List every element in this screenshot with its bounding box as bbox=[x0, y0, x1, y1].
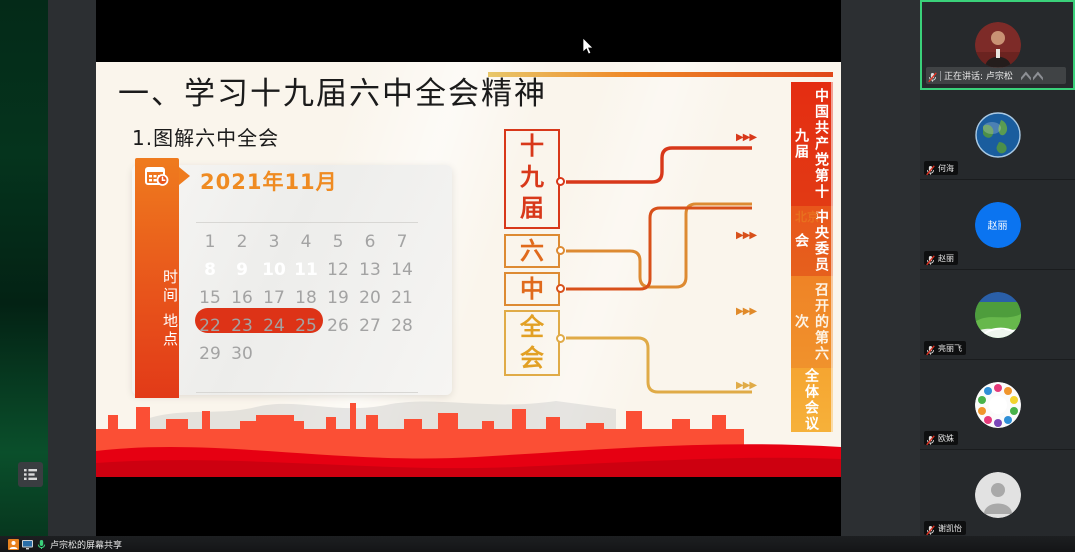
diagram-connectors bbox=[490, 72, 841, 432]
diagram-arrow-3: ▶▶▶ bbox=[736, 380, 756, 391]
slide-subtitle: 1.图解六中全会 bbox=[132, 122, 279, 151]
diagram-arrow-0: ▶▶▶ bbox=[736, 132, 756, 143]
participant-name-badge: 亮丽飞 bbox=[924, 341, 966, 355]
calendar-day: 10 bbox=[258, 258, 290, 283]
participant-name: 正在讲话: 卢宗松 bbox=[944, 69, 1013, 82]
calendar-rule-bottom bbox=[196, 392, 418, 393]
diagram-node-3 bbox=[556, 334, 565, 343]
calendar-day: 25 bbox=[290, 314, 322, 339]
participant-tile[interactable]: 亮丽飞 bbox=[920, 270, 1075, 360]
calendar-day: 13 bbox=[354, 258, 386, 283]
taskbar: 卢宗松的屏幕共享 bbox=[0, 536, 1075, 552]
label-cpc-19th: 中国共产党第十九届 bbox=[791, 82, 833, 206]
participant-name-badge: 赵丽 bbox=[924, 251, 958, 265]
mouse-cursor bbox=[583, 38, 595, 55]
calendar-day: 23 bbox=[226, 314, 258, 339]
calendar-day: 5 bbox=[322, 230, 354, 255]
calendar-day: 29 bbox=[194, 342, 226, 367]
calendar-day: 9 bbox=[226, 258, 258, 283]
calendar-clock-icon bbox=[145, 166, 169, 186]
participant-tile[interactable]: 赵丽赵丽 bbox=[920, 180, 1075, 270]
participant-name-badge: 欧姝 bbox=[924, 431, 958, 445]
mic-muted-icon bbox=[926, 433, 935, 444]
calendar-day: 20 bbox=[354, 286, 386, 311]
participant-tile[interactable]: 谢凯怡 bbox=[920, 450, 1075, 540]
calendar-city-label: 北京 bbox=[795, 208, 819, 225]
calendar-day: 30 bbox=[226, 342, 258, 367]
calendar-day: 1 bbox=[194, 230, 226, 255]
calendar-day: 17 bbox=[258, 286, 290, 311]
avatar bbox=[975, 382, 1021, 428]
participant-name-badge: 谢凯怡 bbox=[924, 521, 966, 535]
calendar-day: 14 bbox=[386, 258, 418, 283]
calendar-day: 22 bbox=[194, 314, 226, 339]
avatar: 赵丽 bbox=[975, 202, 1021, 248]
participant-name: 欧姝 bbox=[938, 433, 954, 444]
structure-diagram: 十 九 届 六 中 全 会 bbox=[490, 72, 841, 432]
calendar-day: 26 bbox=[322, 314, 354, 339]
participant-tile[interactable]: 欧姝 bbox=[920, 360, 1075, 450]
participant-name: 何海 bbox=[938, 163, 954, 174]
calendar-month-label: 2021年11月 bbox=[200, 166, 338, 196]
calendar-day: 19 bbox=[322, 286, 354, 311]
calendar-tab-label: 时间 地点 bbox=[135, 244, 179, 374]
calendar-day: 15 bbox=[194, 286, 226, 311]
calendar-day: 12 bbox=[322, 258, 354, 283]
diagram-arrow-2: ▶▶▶ bbox=[736, 306, 756, 317]
calendar-day: 3 bbox=[258, 230, 290, 255]
participant-name-badge: 正在讲话: 卢宗松 bbox=[926, 67, 1066, 84]
list-menu-button[interactable] bbox=[18, 462, 43, 487]
calendar-day: 21 bbox=[386, 286, 418, 311]
calendar-day-grid: 1234567891011121314151617181920212223242… bbox=[194, 230, 420, 367]
diagram-node-0 bbox=[556, 177, 565, 186]
calendar-day: 18 bbox=[290, 286, 322, 311]
participant-name-badge: 何海 bbox=[924, 161, 958, 175]
diagram-node-1 bbox=[556, 246, 565, 255]
speaking-indicator-icon bbox=[1021, 71, 1043, 81]
calendar-tab-arrow-icon bbox=[179, 167, 190, 185]
participant-list[interactable]: 正在讲话: 卢宗松何海赵丽赵丽亮丽飞欧姝谢凯怡 bbox=[920, 0, 1075, 552]
user-orange-icon[interactable] bbox=[8, 539, 19, 550]
mic-muted-icon bbox=[926, 523, 935, 534]
participant-name: 谢凯怡 bbox=[938, 523, 962, 534]
participant-name: 赵丽 bbox=[938, 253, 954, 264]
avatar bbox=[975, 22, 1021, 68]
list-menu-icon bbox=[24, 469, 37, 480]
calendar-day: 6 bbox=[354, 230, 386, 255]
mic-muted-icon bbox=[926, 163, 935, 174]
calendar-day: 2 bbox=[226, 230, 258, 255]
avatar bbox=[975, 292, 1021, 338]
calendar-day: 27 bbox=[354, 314, 386, 339]
avatar bbox=[975, 472, 1021, 518]
mic-green-icon[interactable] bbox=[36, 539, 47, 550]
calendar-day: 24 bbox=[258, 314, 290, 339]
diagram-node-2 bbox=[556, 284, 565, 293]
badge-divider bbox=[940, 71, 941, 81]
taskbar-share-label: 卢宗松的屏幕共享 bbox=[50, 538, 122, 551]
participant-tile[interactable]: 何海 bbox=[920, 90, 1075, 180]
calendar-day: 4 bbox=[290, 230, 322, 255]
participant-name: 亮丽飞 bbox=[938, 343, 962, 354]
diagram-arrow-1: ▶▶▶ bbox=[736, 230, 756, 241]
calendar-day: 11 bbox=[290, 258, 322, 283]
zoom-meeting-window: 一、学习十九届六中全会精神 1.图解六中全会 时间 地点 bbox=[0, 0, 1075, 552]
calendar-day: 16 bbox=[226, 286, 258, 311]
presentation-slide: 一、学习十九届六中全会精神 1.图解六中全会 时间 地点 bbox=[96, 62, 841, 477]
avatar-initials: 赵丽 bbox=[975, 202, 1021, 248]
monitor-icon[interactable] bbox=[22, 539, 33, 550]
mic-muted-icon bbox=[928, 70, 937, 81]
calendar-day: 7 bbox=[386, 230, 418, 255]
calendar-day: 8 bbox=[194, 258, 226, 283]
label-sixth-session: 召开的第六次 bbox=[791, 276, 833, 368]
avatar bbox=[975, 112, 1021, 158]
mic-muted-icon bbox=[926, 253, 935, 264]
calendar-day: 28 bbox=[386, 314, 418, 339]
skyline-decoration bbox=[96, 399, 841, 477]
mic-muted-icon bbox=[926, 343, 935, 354]
shared-screen-stage[interactable]: 一、学习十九届六中全会精神 1.图解六中全会 时间 地点 bbox=[96, 0, 841, 541]
participant-tile[interactable]: 正在讲话: 卢宗松 bbox=[920, 0, 1075, 90]
page-title: 一、学习十九届六中全会精神 bbox=[118, 68, 547, 113]
calendar-rule-top bbox=[196, 222, 418, 223]
